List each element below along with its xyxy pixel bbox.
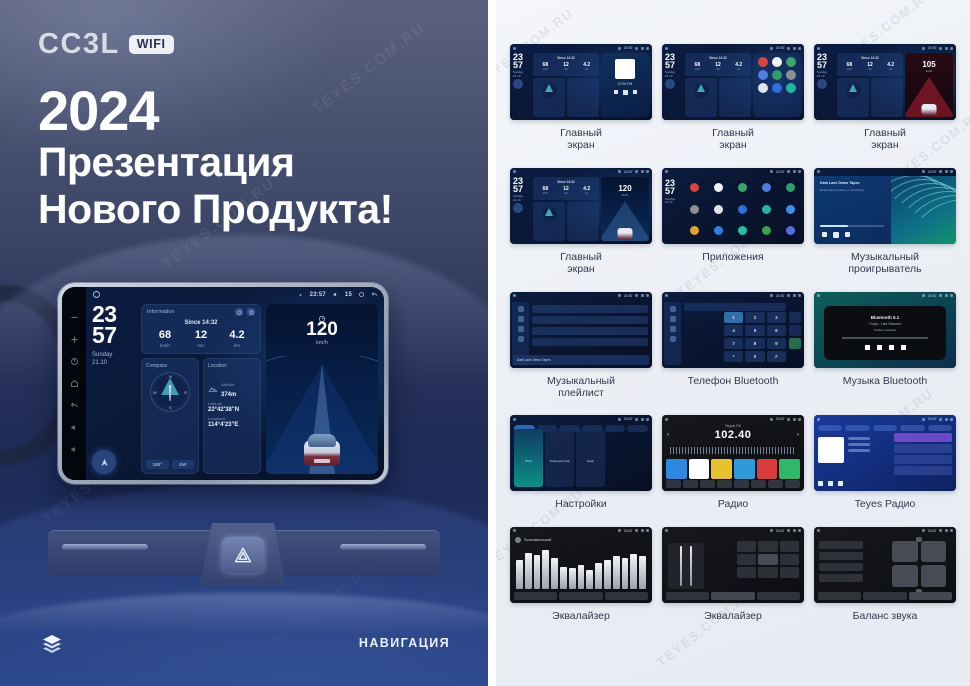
location-card[interactable] (567, 202, 599, 241)
station-row[interactable] (894, 444, 952, 453)
home-icon (817, 529, 820, 532)
effect-pad[interactable] (758, 541, 777, 552)
headline-year: 2024 (38, 82, 393, 139)
thumbnail-music-player[interactable]: 23:57 Dark Lane Demo Tapes Reproduce la … (814, 168, 956, 244)
headline-line2: Нового Продукта! (38, 186, 393, 233)
thumbnail-caption: Музыка Bluetooth (843, 375, 927, 387)
navigation-road-view (266, 356, 378, 474)
navigation-label: НАВИГАЦИЯ (359, 636, 450, 650)
dial-key[interactable]: # (767, 351, 786, 362)
compass-card[interactable] (685, 78, 717, 117)
volume-icon (939, 294, 942, 297)
teyes-tabs[interactable] (818, 425, 952, 431)
stat-distance: 4.2 km (219, 330, 255, 348)
thumbnail-radio[interactable]: 23:57 Region FM 102.40 ‹ › (662, 415, 804, 491)
information-card[interactable]: Since 14:32 68km/h12min4.2km (685, 53, 751, 76)
dial-actions[interactable] (789, 312, 801, 349)
gear-icon (793, 170, 796, 173)
now-playing-bar[interactable]: Dark Lane Demo Tapes (513, 355, 649, 365)
compass-mark-e: E (184, 390, 187, 395)
home-icon[interactable] (70, 379, 79, 388)
dial-key[interactable]: 4 (724, 325, 743, 336)
home-icon (665, 294, 668, 297)
gear-icon (641, 294, 644, 297)
thumb-status-bar: 23:57 (510, 527, 652, 535)
back-arrow-icon[interactable] (371, 291, 378, 298)
mountain-icon (208, 381, 218, 391)
location-card[interactable] (567, 78, 599, 117)
compass-dial: W N E S (150, 372, 190, 412)
music-info-pane[interactable]: Dark Lane Demo Tapes Reproduce la radio … (814, 176, 894, 244)
wifi-icon (922, 294, 925, 297)
navigation-arrow-icon[interactable] (513, 203, 523, 213)
home-icon (817, 170, 820, 173)
information-card[interactable]: Since 14:32 68km/h12min4.2km (533, 177, 599, 200)
thumbnail-equalizer-pads[interactable]: 23:57 (662, 527, 804, 603)
radio-preset[interactable] (689, 459, 710, 479)
app-grid[interactable] (684, 178, 801, 241)
clock-minutes: 57 (92, 325, 136, 346)
balance-sliders[interactable] (668, 543, 704, 589)
thumbnail-caption: Главныйэкран (560, 251, 602, 276)
station-row[interactable] (894, 455, 952, 464)
gear-icon (641, 47, 644, 50)
road-arc (266, 356, 378, 404)
thumb-status-bar: 23:57 (510, 292, 652, 300)
dial-key[interactable]: 9 (767, 338, 786, 349)
thumb-status-bar: 23:57 (814, 527, 956, 535)
back-arrow-icon (950, 294, 953, 297)
grid-cell-equalizer-bars: 23:57 Пользовательский Эквалайзер (510, 527, 652, 622)
clock-subtext: Sunday 21.10 (92, 351, 136, 367)
thumbnail-caption: Приложения (702, 251, 763, 263)
thumbnail-teyes-radio[interactable]: 23:57 (814, 415, 956, 491)
grid-cell-home-nav-blue: 23:57 2357 Sunday21.10 Since 14:32 68km/… (510, 168, 652, 276)
radio-preset[interactable] (734, 459, 755, 479)
thumb-status-bar: 23:57 (814, 292, 956, 300)
expand-icon[interactable] (247, 308, 255, 316)
thumb-status-bar: 23:57 (814, 44, 956, 52)
eq-band-slider[interactable] (578, 565, 585, 589)
eq-band-slider[interactable] (622, 558, 629, 588)
radio-presets[interactable] (666, 459, 800, 479)
logo-model-text: CC3L (38, 30, 120, 59)
plus-icon[interactable] (70, 335, 79, 344)
clock-column: 23 57 Sunday 21.10 (92, 304, 136, 474)
stat-value: 68 (147, 330, 183, 341)
grid-cell-settings: 23:57 Wi-Fi Точка доступа Ещё Настройки (510, 415, 652, 510)
back-arrow-icon (646, 529, 649, 532)
information-card[interactable]: Since 14:32 68km/h12min4.2km (837, 53, 903, 76)
app-icon[interactable] (786, 226, 795, 235)
music-visualizer (891, 176, 956, 244)
volume-icon (787, 529, 790, 532)
stat-unit: min (183, 343, 219, 348)
eq-band-slider[interactable] (525, 553, 532, 589)
compass-card[interactable] (533, 202, 565, 241)
album-art (818, 437, 844, 463)
eq-band-slider[interactable] (560, 567, 567, 589)
audio-tabs[interactable] (514, 592, 648, 600)
speed-icon (318, 310, 326, 318)
thumbnail-music-playlist[interactable]: 23:57 Dark Lane Demo Tapes (510, 292, 652, 368)
audio-tabs[interactable] (666, 592, 800, 600)
eq-band-slider[interactable] (542, 550, 549, 589)
information-card[interactable]: Information Since 14:32 68 (141, 304, 261, 354)
clock-display: 23 57 (92, 304, 136, 346)
hero-panel: TEYES.COM.RU TEYES.COM.RU TEYES.COM.RU T… (0, 0, 488, 686)
station-row[interactable] (894, 433, 952, 442)
effect-pads[interactable] (737, 541, 799, 578)
dial-field[interactable] (684, 303, 786, 311)
playlist-row[interactable] (532, 316, 648, 324)
gear-icon (793, 294, 796, 297)
thumbnail-sound-balance[interactable]: 23:57 (814, 527, 956, 603)
bt-version-label: Bluetooth 5.1 (871, 315, 900, 320)
media-widget[interactable]: 07:50 PM (601, 53, 649, 117)
teyes-station-list[interactable] (894, 433, 952, 477)
prev-station-icon[interactable]: ‹ (667, 432, 669, 438)
gear-icon (945, 418, 948, 421)
effect-pad[interactable] (780, 541, 799, 552)
station-row[interactable] (894, 466, 952, 475)
compass-bearing: 180° (146, 460, 169, 469)
thumbnail-caption: Радио (718, 498, 748, 510)
playlist-row[interactable] (532, 305, 648, 313)
compass-title: Compass (146, 363, 194, 369)
app-icon[interactable] (738, 183, 747, 192)
wifi-icon (770, 170, 773, 173)
volume-icon (939, 418, 942, 421)
thumb-status-bar: 23:57 (662, 415, 804, 423)
compass-card[interactable]: Compass W N E S 180° (141, 358, 199, 474)
settings-tile[interactable]: Wi-Fi (514, 429, 543, 487)
eq-band-slider[interactable] (586, 570, 593, 588)
grid-cell-bt-phone: 23:57 123456789*0# Телефон Bluetooth (662, 292, 804, 400)
compass-card[interactable] (533, 78, 565, 117)
thumb-clock: 2357 Sunday21.10 (817, 53, 835, 117)
grid-cell-equalizer-pads: 23:57 Эквалайзер (662, 527, 804, 622)
dial-key[interactable]: 7 (724, 338, 743, 349)
effect-pad[interactable] (780, 554, 799, 565)
eq-band-slider[interactable] (604, 560, 611, 589)
eq-band-slider[interactable] (534, 555, 541, 589)
dial-key[interactable]: 5 (745, 325, 764, 336)
settings-tab[interactable] (627, 425, 648, 432)
wifi-icon (922, 47, 925, 50)
dial-key[interactable]: 1 (724, 312, 743, 323)
home-icon[interactable] (92, 290, 101, 299)
location-card[interactable]: Location Altitude 374m (203, 358, 261, 474)
compass-mark-s: S (169, 405, 172, 410)
app-icon[interactable] (714, 183, 723, 192)
stat-speed: 68 km/h (147, 330, 183, 348)
speed-unit: km/h (316, 340, 328, 346)
wifi-icon (618, 529, 621, 532)
screenshot-grid-panel: TEYES.COM.RU TEYES.COM.RU TEYES.COM.RU T… (496, 0, 970, 686)
thumbnail-caption: Эквалайзер (552, 610, 610, 622)
settings-tab[interactable] (605, 425, 626, 432)
back-arrow-icon (798, 47, 801, 50)
grid-cell-sound-balance: 23:57 Баланс звука (814, 527, 956, 622)
grid-cell-music-playlist: 23:57 Dark Lane Demo Tapes Музыкальныйпл… (510, 292, 652, 400)
fader-up-button[interactable] (916, 537, 922, 542)
grid-cell-teyes-radio: 23:57 Teyes Радио (814, 415, 956, 510)
wifi-icon (618, 418, 621, 421)
gear-icon (641, 418, 644, 421)
thumbnail-caption: Главныйэкран (864, 127, 906, 152)
thumb-status-bar: 23:57 (662, 168, 804, 176)
vehicle-model (302, 432, 342, 466)
radio-tuning-scale[interactable] (670, 447, 796, 454)
altitude-value: 374m (221, 392, 236, 398)
grid-cell-home-nav-red: 23:57 2357 Sunday21.10 Since 14:32 68km/… (814, 44, 956, 152)
volume-icon (939, 170, 942, 173)
gear-icon (793, 418, 796, 421)
volume-icon (635, 170, 638, 173)
bt-artist: Carbon machine (874, 328, 896, 332)
home-icon (513, 418, 516, 421)
home-icon (513, 529, 516, 532)
thumbnail-home-nav-red[interactable]: 23:57 2357 Sunday21.10 Since 14:32 68km/… (814, 44, 956, 120)
thumbnail-apps[interactable]: 23:57 2357Sunday21.10 (662, 168, 804, 244)
gear-icon (641, 170, 644, 173)
volume-icon (939, 47, 942, 50)
status-bar: 23:57 15 (86, 287, 384, 302)
thumbnail-caption: Эквалайзер (704, 610, 762, 622)
home-icon (513, 294, 516, 297)
thumb-status-bar: 23:57 (662, 292, 804, 300)
longitude-label: Longitude (208, 416, 256, 421)
dial-key[interactable]: 6 (767, 325, 786, 336)
volume-up-icon[interactable] (70, 445, 79, 454)
app-icon[interactable] (762, 183, 771, 192)
vent-slot (340, 544, 426, 550)
gear-icon (945, 529, 948, 532)
back-arrow-icon (798, 294, 801, 297)
effect-pad[interactable] (780, 567, 799, 578)
effect-pad[interactable] (758, 567, 777, 578)
thumbnail-grid: 23:57 2357 Sunday21.10 Since 14:32 68km/… (510, 44, 956, 622)
thumb-clock: 2357 Sunday21.10 (513, 177, 531, 241)
eq-band-slider[interactable] (551, 558, 558, 588)
eq-band-slider[interactable] (516, 560, 523, 589)
compass-needle (169, 385, 171, 401)
back-arrow-icon[interactable] (70, 401, 79, 410)
layers-icon[interactable] (40, 632, 64, 656)
phone-sidebar[interactable] (664, 302, 681, 365)
wifi-icon (770, 529, 773, 532)
effect-pad[interactable] (737, 554, 756, 565)
app-icon[interactable] (714, 205, 723, 214)
dial-key[interactable]: * (724, 351, 743, 362)
radio-preset[interactable] (666, 459, 687, 479)
wifi-icon (922, 418, 925, 421)
teyes-controls[interactable] (818, 481, 843, 486)
logo-wifi-badge: WIFI (129, 35, 174, 54)
eq-band-slider[interactable] (613, 556, 620, 589)
grid-cell-home-apps: 23:57 2357 Sunday21.10 Since 14:32 68km/… (662, 44, 804, 152)
back-arrow-icon (798, 170, 801, 173)
clock-date: 21.10 (92, 359, 136, 367)
minus-icon[interactable] (70, 313, 79, 322)
audio-tabs[interactable] (818, 592, 952, 600)
refresh-icon[interactable] (235, 308, 243, 316)
navigation-arrow-icon[interactable] (817, 79, 827, 89)
navigation-speed-panel[interactable]: 120 km/h (601, 177, 649, 241)
volume-icon (635, 294, 638, 297)
settings-tile[interactable]: Ещё (576, 429, 605, 487)
information-card[interactable]: Since 14:32 68km/h12min4.2km (533, 53, 599, 76)
radio-preset[interactable] (779, 459, 800, 479)
wifi-icon (770, 294, 773, 297)
back-arrow-icon (950, 529, 953, 532)
eq-band-slider[interactable] (569, 568, 576, 588)
wifi-icon (297, 291, 304, 298)
thumbnail-bt-phone[interactable]: 23:57 123456789*0# (662, 292, 804, 368)
dial-key[interactable]: 3 (767, 312, 786, 323)
compass-values: 180° SW (146, 457, 194, 469)
dial-key[interactable]: 8 (745, 338, 764, 349)
vent-slot (62, 544, 148, 550)
next-station-icon[interactable]: › (797, 432, 799, 438)
app-icon[interactable] (786, 183, 795, 192)
balance-presets[interactable] (819, 541, 863, 585)
app-icon[interactable] (738, 205, 747, 214)
thumbnail-home-nav-blue[interactable]: 23:57 2357 Sunday21.10 Since 14:32 68km/… (510, 168, 652, 244)
navigation-arrow-icon[interactable] (665, 79, 675, 89)
eq-band-slider[interactable] (595, 563, 602, 589)
volume-icon (635, 418, 638, 421)
equalizer-bars[interactable] (516, 543, 646, 589)
dial-key[interactable]: 0 (745, 351, 764, 362)
clock-day: Sunday (92, 351, 136, 359)
thumbnail-bt-music[interactable]: 23:57 Bluetooth 5.1 Tropic - Like Summer… (814, 292, 956, 368)
head-unit-screen[interactable]: 23:57 15 23 57 Sunday (86, 287, 384, 480)
app-icon[interactable] (738, 226, 747, 235)
back-arrow-icon (798, 529, 801, 532)
home-icon (513, 170, 516, 173)
settings-tile[interactable]: Точка доступа (545, 429, 574, 487)
effect-pad[interactable] (737, 541, 756, 552)
thumbnail-equalizer-bars[interactable]: 23:57 Пользовательский (510, 527, 652, 603)
volume-icon (787, 47, 790, 50)
app-icon[interactable] (690, 226, 699, 235)
gear-icon (793, 529, 796, 532)
thumbnail-caption: Телефон Bluetooth (688, 375, 779, 387)
app-icon[interactable] (786, 205, 795, 214)
navigation-arrow-icon[interactable] (92, 450, 116, 474)
headline-line1: Презентация (38, 139, 393, 186)
stat-value: 4.2 (219, 330, 255, 341)
grid-cell-apps: 23:57 2357Sunday21.10 Приложения (662, 168, 804, 276)
location-card[interactable] (871, 78, 903, 117)
wifi-icon (922, 529, 925, 532)
information-stats: 68 km/h 12 min 4.2 km (147, 330, 255, 348)
radio-band: Region FM (662, 424, 804, 428)
bt-music-card[interactable]: Bluetooth 5.1 Tropic - Like Summer Carbo… (824, 306, 946, 360)
volume-down-icon[interactable] (70, 423, 79, 432)
head-unit-device: 23:57 15 23 57 Sunday (58, 283, 388, 484)
thumbnail-home-media[interactable]: 23:57 2357 Sunday21.10 Since 14:32 68km/… (510, 44, 652, 120)
location-card[interactable] (719, 78, 751, 117)
app-icon[interactable] (690, 205, 699, 214)
compass-direction: SW (172, 460, 195, 469)
compass-card[interactable] (837, 78, 869, 117)
effect-pad[interactable] (737, 567, 756, 578)
back-arrow-icon (646, 294, 649, 297)
gear-icon (641, 529, 644, 532)
grid-cell-music-player: 23:57 Dark Lane Demo Tapes Reproduce la … (814, 168, 956, 276)
grid-cell-radio: 23:57 Region FM 102.40 ‹ › Радио (662, 415, 804, 510)
wifi-icon (922, 170, 925, 173)
longitude-value: 114°4'23"E (208, 422, 256, 428)
quick-apps-widget[interactable] (753, 53, 801, 117)
home-icon (817, 47, 820, 50)
playlist-row[interactable] (532, 338, 648, 346)
volume-icon (635, 47, 638, 50)
app-icon[interactable] (714, 226, 723, 235)
back-arrow-icon (646, 170, 649, 173)
app-icon[interactable] (690, 183, 699, 192)
latitude-label: Latitude (208, 401, 256, 406)
balance-fader-pad[interactable] (892, 541, 946, 587)
dial-key[interactable]: 2 (745, 312, 764, 323)
back-arrow-icon (798, 418, 801, 421)
power-icon[interactable] (70, 357, 79, 366)
eq-band-slider[interactable] (639, 556, 646, 588)
compass-mark-w: W (153, 390, 157, 395)
app-icon[interactable] (762, 205, 771, 214)
effect-pad[interactable] (758, 554, 777, 565)
navigation-arrow-icon[interactable] (513, 79, 523, 89)
thumbnail-settings[interactable]: 23:57 Wi-Fi Точка доступа Ещё (510, 415, 652, 491)
gear-icon (793, 47, 796, 50)
radio-toolbar[interactable] (666, 480, 800, 488)
information-title: Information (147, 309, 175, 315)
radio-preset[interactable] (757, 459, 778, 479)
thumb-status-bar: 23:57 (662, 44, 804, 52)
radio-preset[interactable] (711, 459, 732, 479)
gear-icon (945, 294, 948, 297)
grid-cell-bt-music: 23:57 Bluetooth 5.1 Tropic - Like Summer… (814, 292, 956, 400)
thumb-status-bar: 23:57 (662, 527, 804, 535)
back-arrow-icon (950, 47, 953, 50)
home-icon (665, 170, 668, 173)
dial-pad[interactable]: 123456789*0# (724, 312, 786, 362)
information-since: Since 14:32 (147, 320, 255, 326)
eq-band-slider[interactable] (630, 554, 637, 589)
status-volume: 15 (345, 292, 352, 298)
gear-icon[interactable] (358, 291, 365, 298)
app-icon[interactable] (762, 226, 771, 235)
head-unit-side-buttons[interactable] (62, 287, 86, 480)
volume-icon[interactable] (332, 291, 339, 298)
stat-unit: km/h (147, 343, 183, 348)
navigation-speed-panel[interactable]: 120 km/h (266, 304, 378, 474)
home-icon (665, 529, 668, 532)
radio-frequency: 102.40 (662, 429, 804, 441)
thumb-clock: 2357 Sunday21.10 (665, 53, 683, 117)
hazard-lights-button[interactable] (222, 537, 264, 573)
playlist-row[interactable] (532, 327, 648, 335)
navigation-speed-panel[interactable]: 105 km/h (905, 53, 953, 117)
wifi-icon (770, 47, 773, 50)
hero-footer: НАВИГАЦИЯ (0, 632, 488, 658)
thumbnail-home-apps[interactable]: 23:57 2357 Sunday21.10 Since 14:32 68km/… (662, 44, 804, 120)
home-icon (665, 418, 668, 421)
location-title: Location (208, 363, 256, 369)
